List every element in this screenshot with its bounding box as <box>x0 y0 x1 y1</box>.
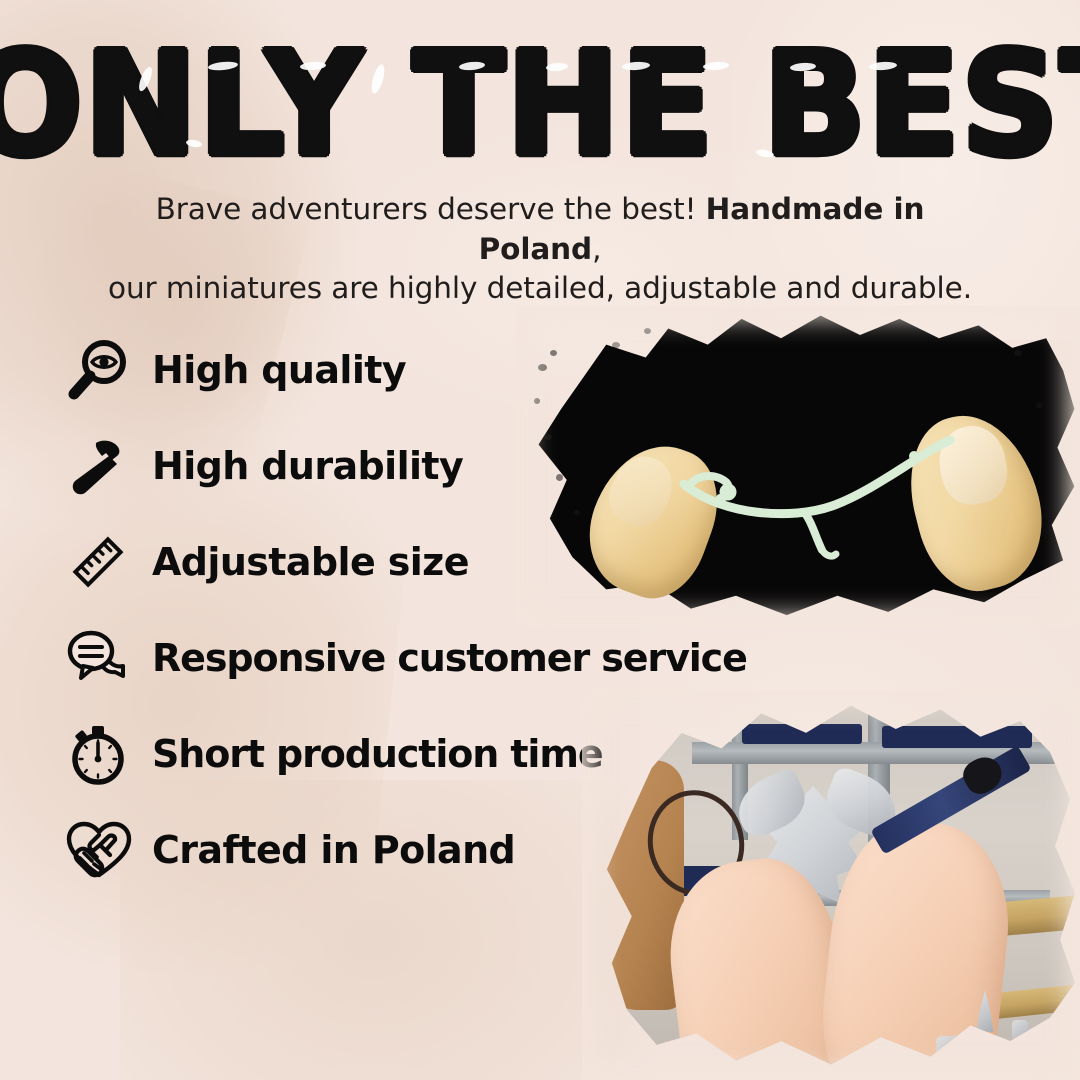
feature-label: Crafted in Poland <box>152 828 515 872</box>
feature-label: High durability <box>152 444 463 488</box>
feature-label: Adjustable size <box>152 540 469 584</box>
feature-label: Responsive customer service <box>152 636 747 680</box>
workshop-crafting-photo <box>582 690 1080 1080</box>
feature-label: High quality <box>152 348 406 392</box>
handshake-heart-icon <box>62 817 152 883</box>
workshop-scene <box>582 690 1080 1080</box>
subtitle-line1: Brave adventurers deserve the best! Hand… <box>156 192 925 266</box>
subtitle: Brave adventurers deserve the best! Hand… <box>90 190 990 309</box>
stopwatch-icon <box>62 722 152 786</box>
promo-poster: ONLY THE BEST Brave adventurers deserve … <box>0 0 1080 1080</box>
feature-label: Short production time <box>152 732 603 776</box>
ruler-icon <box>62 530 152 594</box>
hammer-icon <box>62 434 152 498</box>
small-miniature <box>1012 1020 1028 1040</box>
speech-bubbles-icon <box>62 626 152 690</box>
magnifier-eye-icon <box>62 338 152 402</box>
parts-tray <box>742 724 862 744</box>
subtitle-line2: our miniatures are highly detailed, adju… <box>108 271 972 305</box>
flexible-miniature-part <box>516 306 1080 628</box>
parts-tray <box>882 726 1032 748</box>
small-miniature <box>936 1036 968 1062</box>
page-title: ONLY THE BEST <box>0 34 1080 177</box>
flexible-miniature-photo <box>516 306 1080 628</box>
